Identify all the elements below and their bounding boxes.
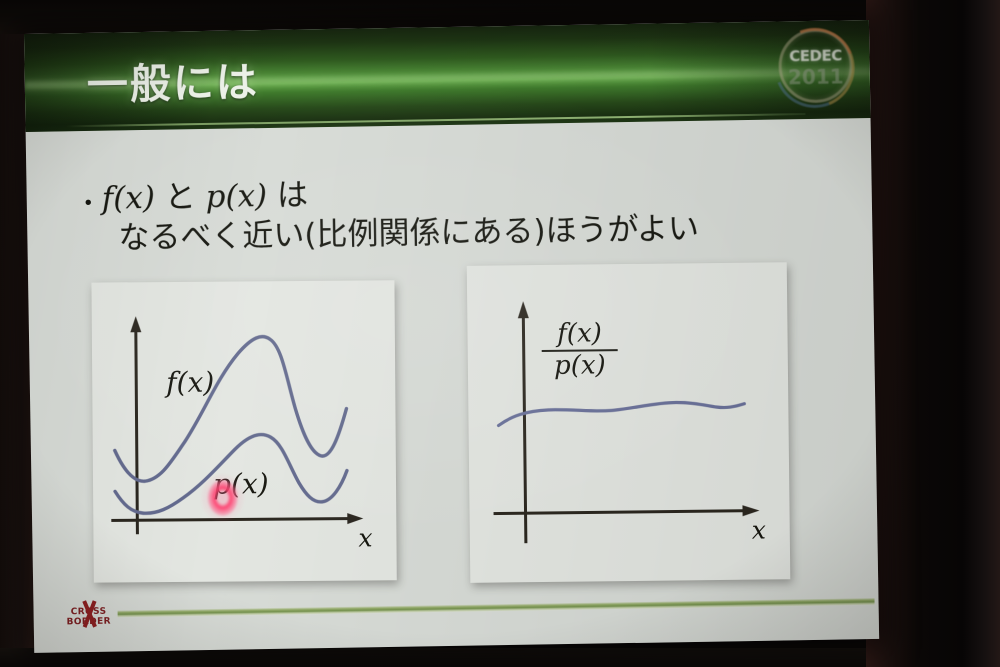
photo-frame: 一般には CEDEC 2011 • f(x) と p(x) は なるべく近い(比… <box>0 0 1000 667</box>
y-axis-line <box>136 326 138 534</box>
bullet-line-1: f(x) と p(x) は <box>101 171 698 217</box>
math-px: p(x) <box>205 178 267 215</box>
text-to: と <box>155 179 206 216</box>
figure-fx-px: f(x) p(x) x <box>91 280 396 582</box>
x-axis-line <box>494 511 746 514</box>
x-axis-label: x <box>358 523 372 552</box>
x-axis-arrowhead <box>347 513 363 524</box>
text-wa: は <box>267 177 308 214</box>
y-axis-line <box>523 313 526 543</box>
figure-fx-px-svg <box>91 280 396 582</box>
label-fx: f(x) <box>166 366 214 399</box>
slide-body: • f(x) と p(x) は なるべく近い(比例関係にある)ほうがよい <box>84 168 845 257</box>
figure-ratio-svg <box>467 262 791 583</box>
curve-fx <box>114 336 347 482</box>
cedec-logo-year: 2011 <box>777 64 855 89</box>
cedec-logo-text: CEDEC <box>776 46 854 65</box>
y-axis-arrowhead <box>130 316 141 332</box>
bullet-text-block: f(x) と p(x) は なるべく近い(比例関係にある)ほうがよい <box>101 171 699 258</box>
projected-slide: 一般には CEDEC 2011 • f(x) と p(x) は なるべく近い(比… <box>24 20 879 653</box>
label-ratio-fraction: f(x) p(x) <box>541 320 618 380</box>
bullet-dot-icon: • <box>85 193 92 213</box>
cross-border-logo: CROSS BORDER <box>47 598 129 629</box>
fraction-denominator: p(x) <box>542 352 618 380</box>
x-axis-label: x <box>752 515 766 544</box>
figure-card-right: f(x) p(x) x <box>467 262 791 583</box>
figure-ratio: f(x) p(x) x <box>467 262 791 583</box>
room-wall-right <box>866 0 1000 667</box>
fraction-numerator: f(x) <box>541 320 617 348</box>
math-fx: f(x) <box>101 180 155 217</box>
cedec-logo: CEDEC 2011 <box>776 26 855 105</box>
curve-ratio <box>498 402 744 426</box>
cross-border-x-icon <box>79 600 97 628</box>
footer-rule <box>118 598 875 618</box>
bullet-line-2: なるべく近い(比例関係にある)ほうがよい <box>118 210 699 257</box>
bullet-item: • f(x) と p(x) は なるべく近い(比例関係にある)ほうがよい <box>84 168 845 257</box>
page-title: 一般には <box>86 48 259 111</box>
y-axis-arrowhead <box>518 301 529 318</box>
x-axis-arrowhead <box>742 505 759 516</box>
laser-pointer-dot <box>207 480 238 516</box>
figure-card-left: f(x) p(x) x <box>91 280 396 582</box>
